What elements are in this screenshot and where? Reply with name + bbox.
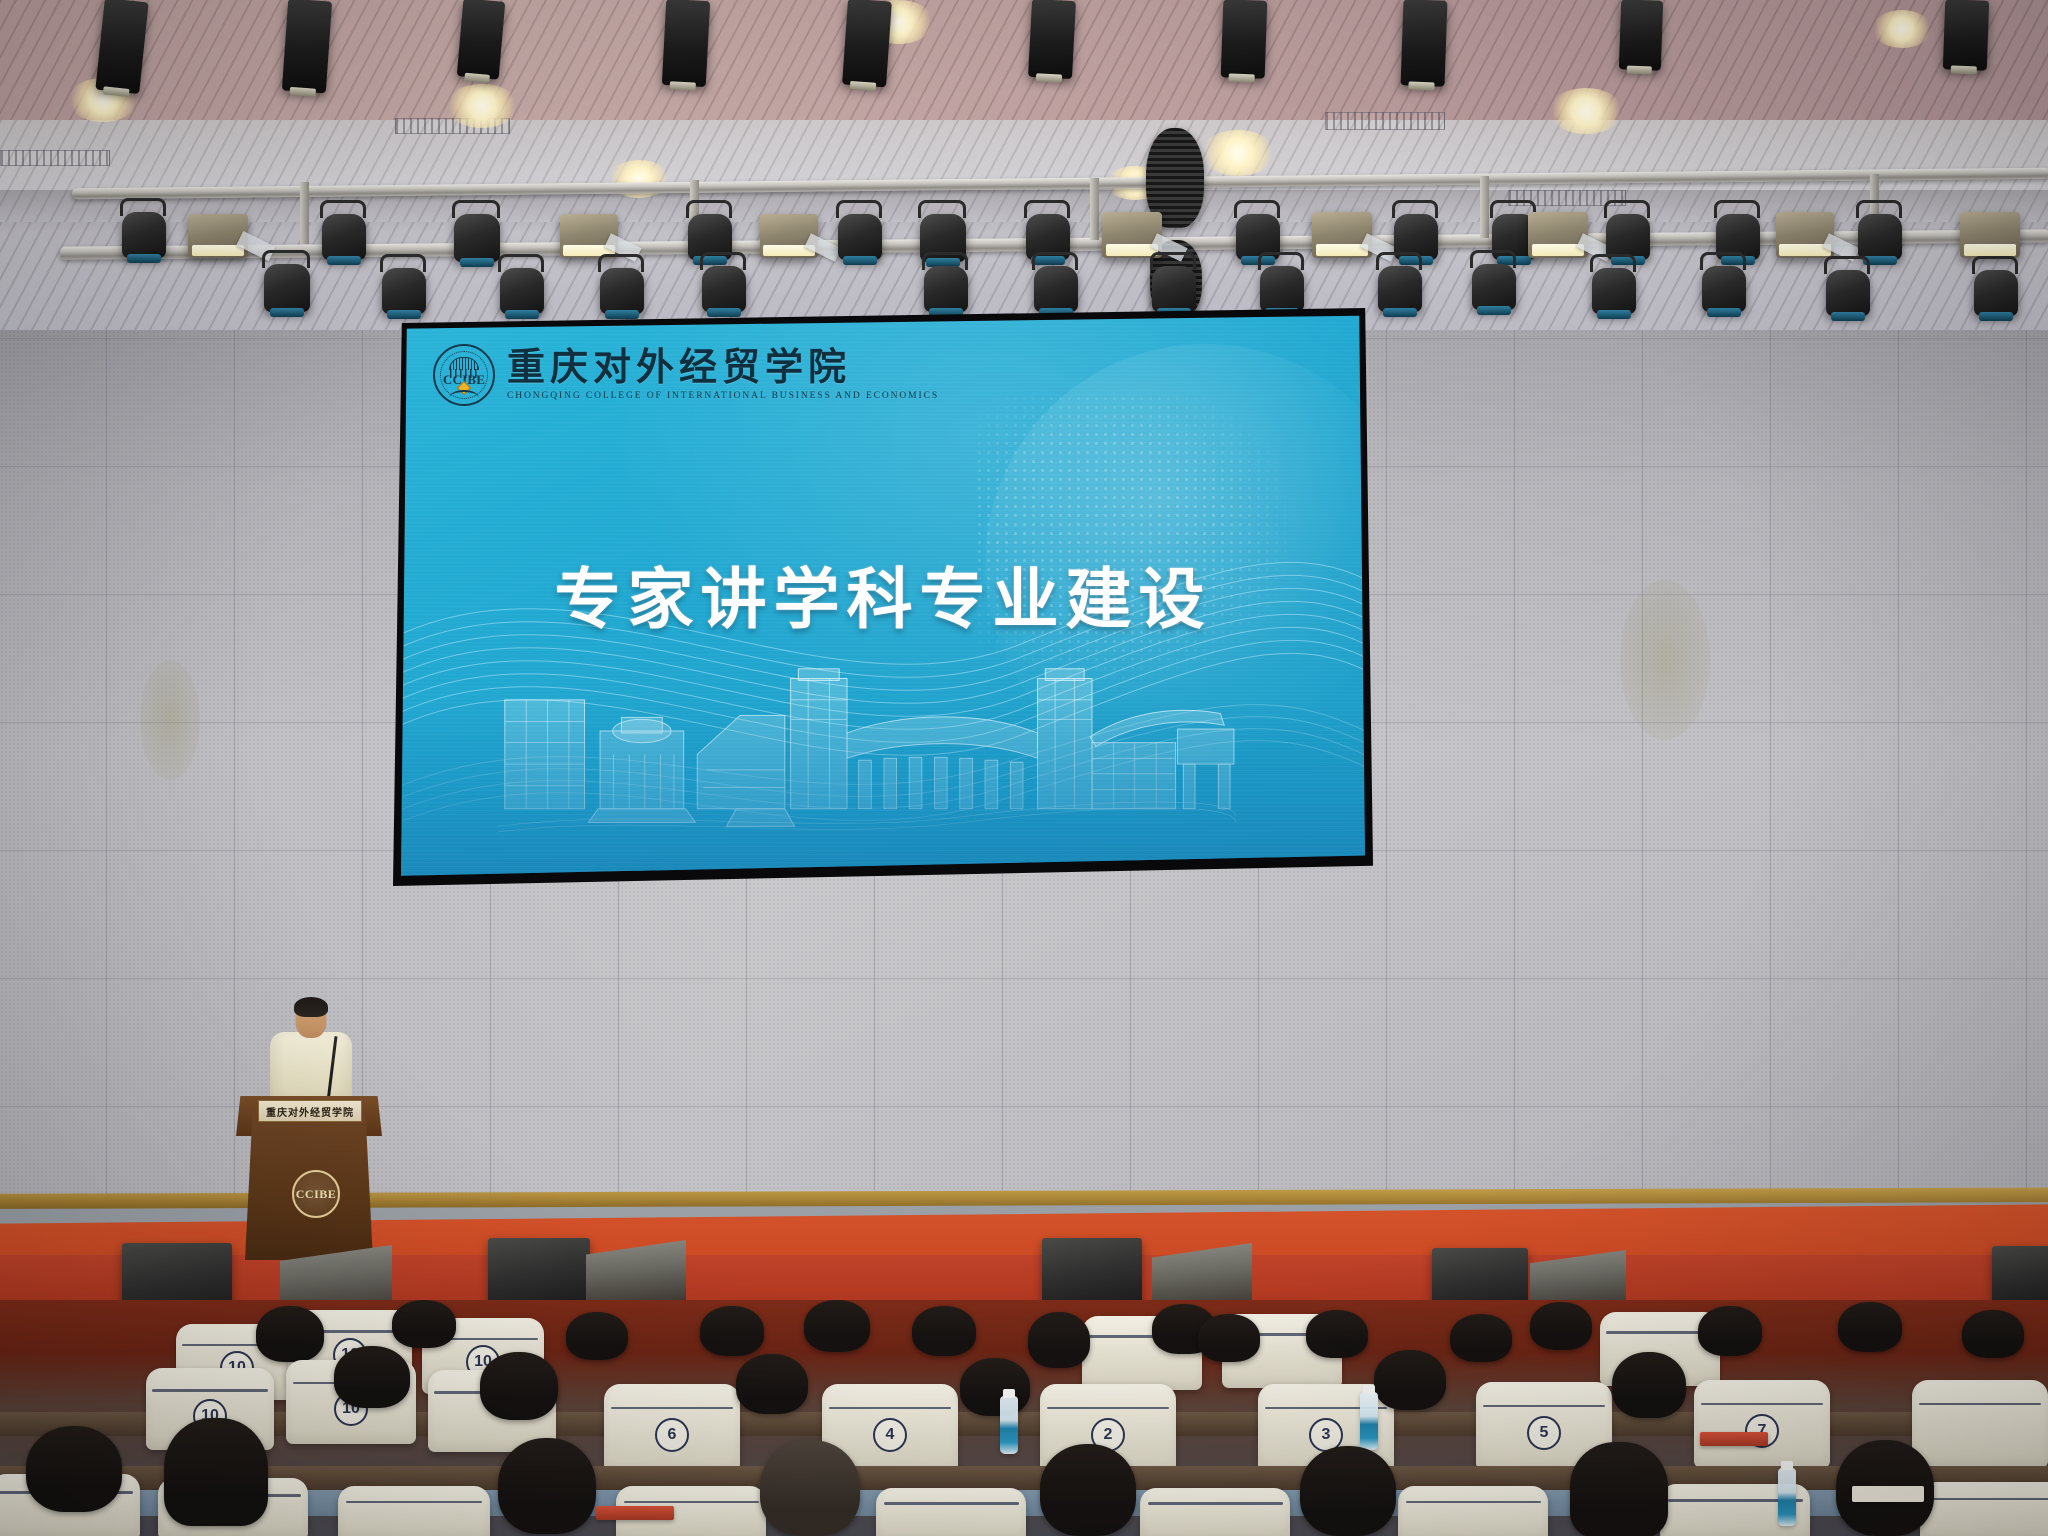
audience-head longhair (1612, 1352, 1686, 1418)
audience-head (392, 1300, 456, 1348)
ceiling-vent (1325, 112, 1445, 130)
audience-head (1530, 1302, 1592, 1350)
wall-stain (1620, 580, 1710, 740)
stage-light-fresnel (1102, 212, 1162, 258)
stage-light-profile (282, 0, 332, 93)
water-bottle (1778, 1468, 1796, 1526)
water-bottle (1360, 1392, 1378, 1450)
audience-head (164, 1418, 268, 1526)
stage-light-par (122, 212, 166, 258)
stage-monitor-speaker (488, 1238, 590, 1306)
audience-head (760, 1440, 860, 1536)
led-screen: CCIBE 重庆对外经贸学院 CHONGQING COLLEGE OF INTE… (401, 314, 1365, 878)
stage-light-par (1702, 266, 1746, 312)
stage-light-fresnel (1776, 212, 1834, 258)
paper-sheet (1852, 1486, 1924, 1502)
audience-head (1962, 1310, 2024, 1358)
stage-light-profile (1619, 0, 1663, 71)
stage-light-par (382, 268, 426, 314)
stage-light-profile (1028, 0, 1076, 79)
audience-head (804, 1300, 870, 1352)
audience-area: 10 10 10 10 10 (0, 1300, 2048, 1536)
audience-head (960, 1358, 1030, 1416)
audience-head (26, 1426, 122, 1512)
seat-number: 5 (1527, 1416, 1561, 1450)
stage-light-par (1378, 266, 1422, 312)
slide-headline: 专家讲学科专业建设 (401, 546, 1365, 642)
audience-head (498, 1438, 596, 1534)
red-notebook (1700, 1432, 1768, 1446)
audience-head (566, 1312, 628, 1360)
stage-light-profile (662, 0, 710, 87)
audience-head (1306, 1310, 1368, 1358)
ceiling-downlight (1201, 130, 1275, 176)
truss-post (1090, 178, 1099, 240)
audience-head (912, 1306, 976, 1356)
audience-seat: 7 (1694, 1380, 1830, 1468)
audience-seat (1920, 1482, 2048, 1536)
ceiling-vent (0, 150, 110, 166)
audience-head bald (1198, 1314, 1260, 1362)
ceiling-downlight (446, 84, 518, 128)
institution-name-cn: 重庆对外经贸学院 (507, 349, 939, 388)
audience-head (1838, 1302, 1902, 1352)
audience-head (736, 1354, 808, 1414)
stage-light-par (1858, 214, 1902, 260)
audience-seat: 6 (604, 1384, 740, 1472)
podium-seal-icon: CCIBE (292, 1170, 340, 1218)
seat-number: 6 (655, 1418, 689, 1452)
podium-plaque: 重庆对外经贸学院 (258, 1100, 362, 1122)
stage-light-par (1592, 268, 1636, 314)
auditorium-scene: CCIBE 重庆对外经贸学院 CHONGQING COLLEGE OF INTE… (0, 0, 2048, 1536)
logo-text-group: 重庆对外经贸学院 CHONGQING COLLEGE OF INTERNATIO… (507, 349, 939, 401)
audience-head (1698, 1306, 1762, 1356)
stage-light-par (702, 266, 746, 312)
audience-head (1040, 1444, 1136, 1536)
university-logo-lockup: CCIBE 重庆对外经贸学院 CHONGQING COLLEGE OF INTE… (433, 344, 939, 406)
stage-light-profile (1401, 0, 1448, 87)
stage-light-par (1152, 266, 1196, 312)
institution-name-en: CHONGQING COLLEGE OF INTERNATIONAL BUSIN… (507, 391, 939, 401)
stage-light-par (264, 264, 310, 312)
truss-post (300, 182, 309, 244)
seat-number: 4 (873, 1418, 907, 1452)
speaker-person (268, 1000, 354, 1112)
stage-light-par (924, 266, 968, 312)
audience-head (700, 1306, 764, 1356)
podium-seal-acronym: CCIBE (296, 1187, 337, 1202)
audience-head (334, 1346, 410, 1408)
ceiling-downlight (1872, 10, 1932, 48)
stage-light-fresnel (188, 214, 248, 258)
stage-light-profile (1221, 0, 1268, 79)
stage-monitor-speaker (1042, 1238, 1142, 1304)
water-bottle (1000, 1396, 1018, 1454)
stage-light-par (454, 214, 500, 262)
audience-seat (338, 1486, 490, 1536)
audience-head longhair (480, 1352, 558, 1420)
stage-light-par (1260, 266, 1304, 312)
audience-head (1450, 1314, 1512, 1362)
wall-stain (140, 660, 200, 780)
audience-seat (1140, 1488, 1290, 1536)
stage-light-fresnel (1960, 212, 2020, 258)
audience-seat (1398, 1486, 1548, 1536)
ceiling-downlight (1549, 88, 1623, 134)
audience-seat (1912, 1380, 2048, 1468)
stage-light-par (1034, 266, 1078, 312)
stage-light-profile (1943, 0, 1989, 71)
stage-light-profile (457, 0, 506, 80)
audience-head (1300, 1446, 1396, 1536)
stage-light-par (838, 214, 882, 260)
ccibe-crest-icon: CCIBE (433, 344, 495, 406)
truss-post (1480, 176, 1489, 238)
stage-light-par (500, 268, 544, 314)
stage-light-par (322, 214, 366, 260)
stage-light-fresnel (1528, 212, 1588, 258)
stage-light-par (600, 268, 644, 314)
audience-head longhair (1028, 1312, 1090, 1368)
speaker-hair (294, 997, 328, 1017)
audience-head (256, 1306, 324, 1362)
audience-seat (876, 1488, 1026, 1536)
crest-book-shape (449, 390, 479, 398)
stage-light-par (1974, 270, 2018, 316)
stage-light-profile (842, 0, 892, 87)
audience-head (1374, 1350, 1446, 1410)
stage-light-par (1826, 270, 1870, 316)
stage-light-fresnel (1312, 212, 1372, 258)
stage-light-par (1472, 264, 1516, 310)
audience-head (1570, 1442, 1668, 1536)
red-notebook (596, 1506, 674, 1520)
